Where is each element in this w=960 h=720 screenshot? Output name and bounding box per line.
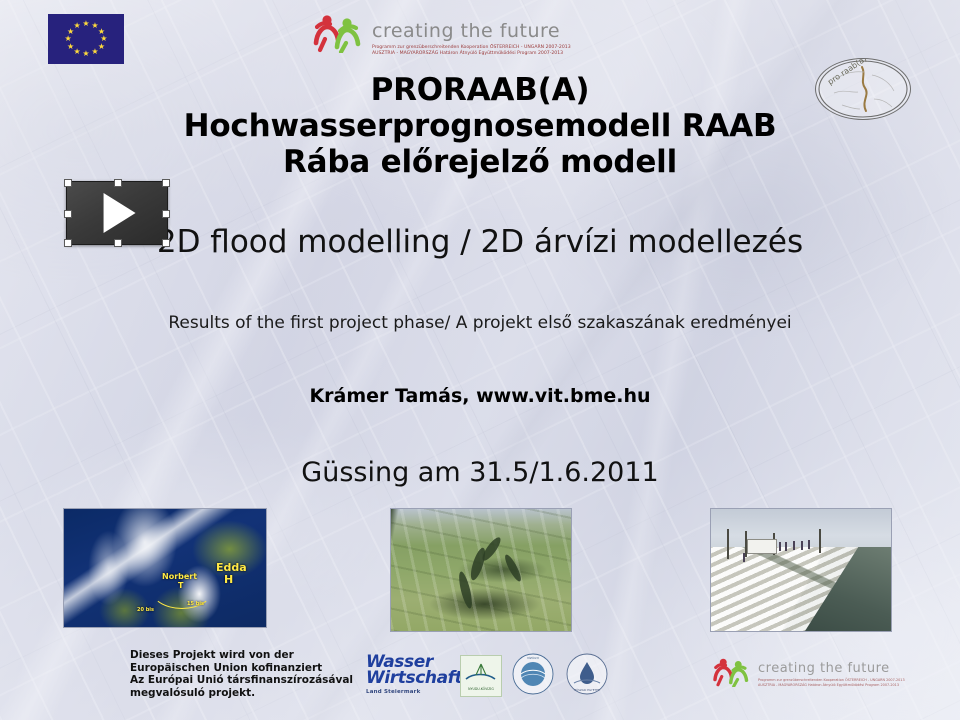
eu-flag-header: ★★★★★★★★★★★★ <box>48 14 124 64</box>
ctf-footer-subtitle-hu: AUSZTRIA - MAGYARORSZÁG Határon Átnyúló … <box>758 683 905 688</box>
photo-satellite-weather-map: Edda H Norbert T 20 bis 15 bis <box>63 508 267 628</box>
resize-handle-se[interactable] <box>162 239 170 247</box>
institute-logo-bme: MŰSZAKI EGYETEM <box>566 653 608 695</box>
weather-label-norbert: Norbert <box>162 572 197 581</box>
institute-logo-2-caption: VÍZÜGYI <box>527 655 539 660</box>
resize-handle-sw[interactable] <box>64 239 72 247</box>
ctf-title-text: creating the future <box>372 20 571 42</box>
levee-worker <box>801 541 803 550</box>
weather-label-pressure: 20 bis <box>137 607 154 613</box>
levee-worker <box>793 541 795 550</box>
slide-results-line: Results of the first project phase/ A pr… <box>0 313 960 333</box>
institute-logo-nyudu-kovizig: NYUDU-KÖVIZIG <box>460 655 502 697</box>
institute-logo-vizugyi: VÍZÜGYI <box>512 653 554 695</box>
ww-word-wirtschaft: Wirtschaft <box>366 670 470 686</box>
levee-tree <box>727 529 729 559</box>
eu-star-icon: ★ <box>82 50 89 58</box>
resize-handle-nw[interactable] <box>64 179 72 187</box>
funding-line-4: megvalósuló projekt. <box>130 687 353 700</box>
levee-water <box>805 547 891 631</box>
ctf-subtitle-hu: AUSZTRIA - MAGYARORSZÁG Határon Átnyúló … <box>372 51 571 57</box>
ctf-people-icon-footer <box>712 657 754 687</box>
eu-star-icon: ★ <box>67 43 74 51</box>
ctf-footer-subtitle-de: Programm zur grenzüberschreitenden Koope… <box>758 678 905 683</box>
weather-label-t: T <box>178 581 183 590</box>
slide-author-line: Krámer Tamás, www.vit.bme.hu <box>0 385 960 407</box>
eu-star-icon: ★ <box>98 43 105 51</box>
slide-date-line: Güssing am 31.5/1.6.2011 <box>0 457 960 488</box>
creating-the-future-logo-footer: creating the future Programm zur grenzüb… <box>712 657 905 687</box>
resize-handle-s[interactable] <box>114 239 122 247</box>
creating-the-future-logo-header: creating the future Programm zur grenzüb… <box>312 13 571 57</box>
resize-handle-ne[interactable] <box>162 179 170 187</box>
funding-line-1: Dieses Projekt wird von der <box>130 649 353 662</box>
photo-sandbag-levee <box>710 508 892 632</box>
title-line-1: PRORAAB(A) <box>0 72 960 108</box>
resize-handle-n[interactable] <box>114 179 122 187</box>
funding-text-block: Dieses Projekt wird von der Europäischen… <box>130 649 353 699</box>
funding-line-2: Europäischen Union kofinanziert <box>130 662 353 675</box>
title-line-2: Hochwasserprognosemodell RAAB <box>0 108 960 144</box>
title-line-3: Rába előrejelző modell <box>0 144 960 180</box>
institute-logo-1-caption: NYUDU-KÖVIZIG <box>468 686 494 691</box>
levee-truck <box>747 539 777 554</box>
institute-logo-3-caption: MŰSZAKI EGYETEM <box>574 687 601 692</box>
resize-handle-e[interactable] <box>162 210 170 218</box>
levee-worker <box>743 553 745 562</box>
ww-sub-land: Land Steiermark <box>366 689 470 695</box>
levee-worker <box>808 540 810 549</box>
slide-title: PRORAAB(A) Hochwasserprognosemodell RAAB… <box>0 72 960 180</box>
play-triangle-icon <box>104 193 136 233</box>
levee-worker <box>779 542 781 551</box>
resize-handle-w[interactable] <box>64 210 72 218</box>
presentation-slide: ★★★★★★★★★★★★ creating the future Program… <box>0 0 960 720</box>
river-segment <box>502 553 523 583</box>
video-play-button[interactable] <box>66 181 168 245</box>
wasser-wirtschaft-logo: Wasser Wirtschaft Land Steiermark <box>366 654 470 695</box>
weather-label-edda-h: H <box>224 573 233 586</box>
ctf-footer-title: creating the future <box>758 661 905 676</box>
eu-star-icon: ★ <box>82 20 89 28</box>
eu-star-icon: ★ <box>73 48 80 56</box>
levee-tree <box>819 529 821 553</box>
eu-star-icon: ★ <box>91 48 98 56</box>
eu-star-icon: ★ <box>65 35 72 43</box>
funding-line-3: Az Európai Unió társfinanszírozásával <box>130 674 353 687</box>
levee-worker <box>785 542 787 551</box>
weather-label-pressure-2: 15 bis <box>187 601 204 607</box>
photo-aerial-river-valley <box>390 508 572 632</box>
eu-star-icon: ★ <box>73 22 80 30</box>
ctf-people-icon <box>312 13 368 53</box>
